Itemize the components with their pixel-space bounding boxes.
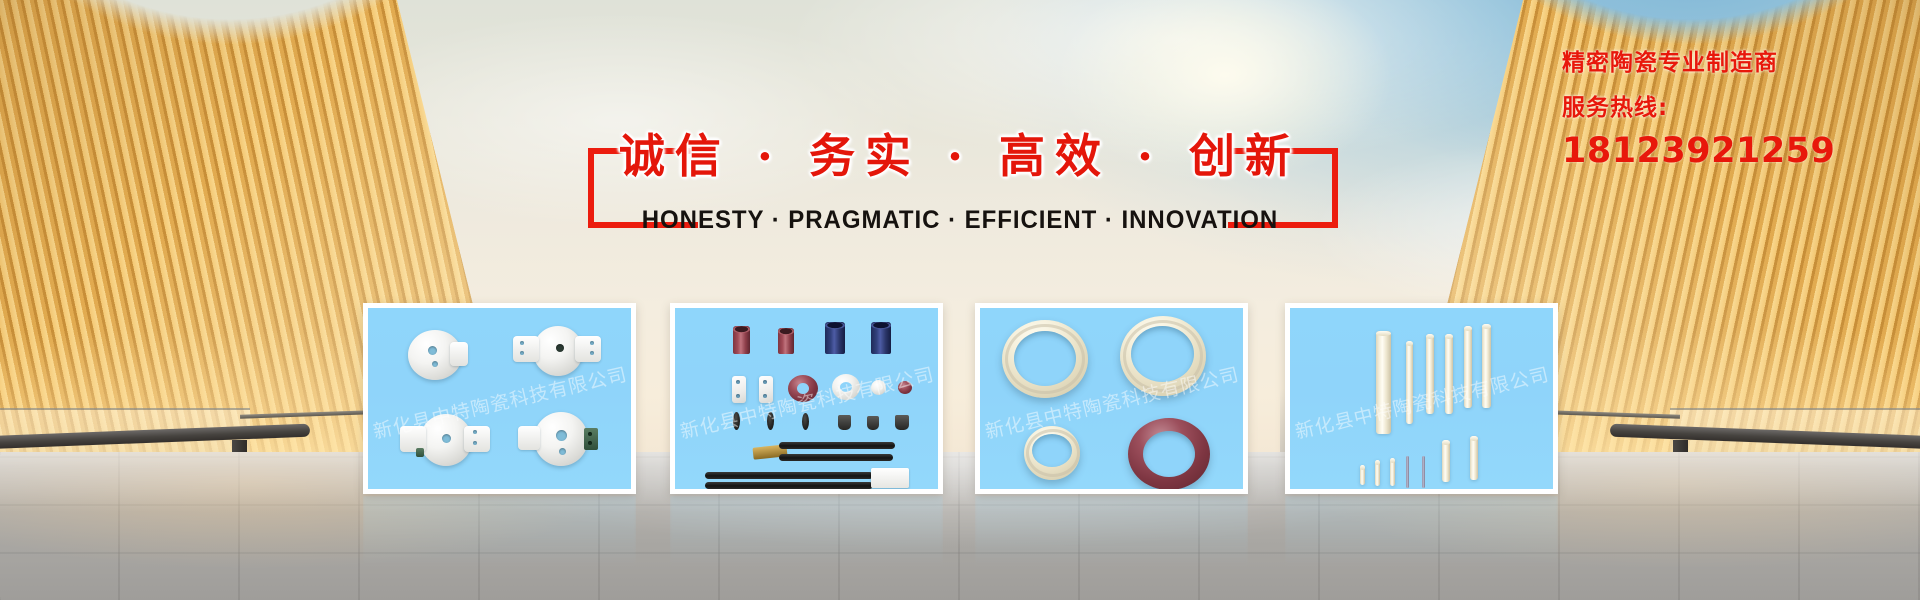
ceramic-tube-maroon-2 (778, 328, 794, 354)
ceramic-ring-small (1024, 426, 1080, 480)
metal-clip-1 (838, 415, 851, 430)
ceramic-seed-1 (733, 412, 740, 430)
ceramic-seed-2 (767, 412, 774, 430)
ceramic-rod-short-3 (1390, 458, 1395, 486)
ceramic-rod-short-2 (1375, 460, 1380, 486)
wire-lead-4 (705, 482, 873, 489)
ceramic-rod-thin-1 (1406, 456, 1409, 488)
product-panel-lamp-holders[interactable]: 新化县中特陶瓷科技有限公司 (363, 303, 636, 494)
ceramic-ring-white (832, 374, 860, 400)
ceramic-button-white (871, 380, 886, 395)
ceramic-rod-thin-2 (1422, 456, 1425, 488)
ceramic-rod-short-4 (1442, 440, 1450, 482)
ceramic-rod-short-1 (1360, 465, 1365, 485)
ceramic-ring-large-2 (1120, 316, 1206, 396)
hotline-label: 服务热线: (1562, 97, 1902, 120)
ceramic-rod-short-5 (1470, 436, 1478, 480)
ceramic-ring-maroon-large (1128, 418, 1210, 489)
ceramic-button-maroon (898, 381, 912, 394)
wire-lead-2 (779, 454, 893, 461)
panel-watermark: 新化县中特陶瓷科技有限公司 (677, 360, 936, 445)
promo-banner: 新化县中特陶瓷科技有限公司 (0, 0, 1920, 600)
ceramic-rod-4 (1445, 334, 1453, 414)
hotline-number[interactable]: 18123921259 (1562, 134, 1902, 169)
lamp-holder-a (404, 330, 468, 382)
ceramic-tube-navy-1 (825, 322, 845, 354)
ceramic-tube-navy-2 (871, 322, 891, 354)
wire-lead-1 (779, 442, 895, 449)
ceramic-ring-large-1 (1002, 320, 1088, 398)
ceramic-ring-maroon (788, 375, 818, 402)
panel-watermark: 新化县中特陶瓷科技有限公司 (1292, 360, 1551, 445)
wire-lead-3 (705, 472, 873, 479)
ceramic-plate-1 (732, 376, 746, 403)
company-tagline: 精密陶瓷专业制造商 (1562, 52, 1902, 75)
ceramic-tube-maroon-1 (733, 326, 750, 354)
product-panel-rods[interactable]: 新化县中特陶瓷科技有限公司 (1285, 303, 1558, 494)
ceramic-rod-3 (1426, 334, 1434, 414)
product-panel-tubes-connectors[interactable]: 新化县中特陶瓷科技有限公司 (670, 303, 943, 494)
ceramic-rod-thick (1376, 331, 1391, 434)
ceramic-seed-3 (802, 413, 809, 430)
product-panel-rings[interactable]: 新化县中特陶瓷科技有限公司 (975, 303, 1248, 494)
metal-clip-2 (867, 416, 879, 430)
white-connector-block (871, 468, 909, 488)
ceramic-plate-2 (759, 376, 773, 403)
metal-clip-3 (895, 415, 909, 430)
lamp-holder-d (518, 412, 602, 470)
ceramic-rod-5 (1464, 326, 1472, 408)
contact-block: 精密陶瓷专业制造商 服务热线: 18123921259 (1562, 52, 1902, 169)
ceramic-rod-6 (1482, 324, 1491, 408)
lamp-holder-c (400, 414, 490, 470)
lamp-holder-b (513, 326, 601, 382)
ceramic-rod-2 (1406, 341, 1413, 424)
